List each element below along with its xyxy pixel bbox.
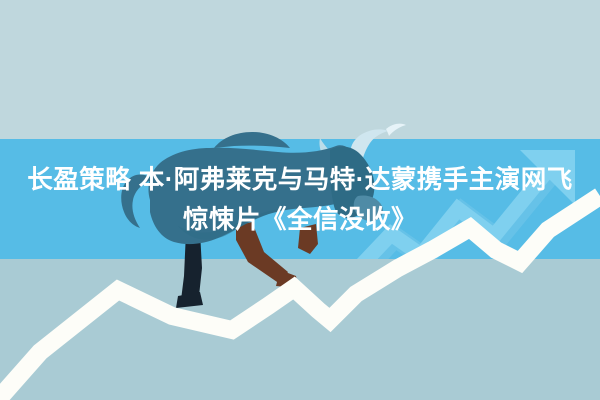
background-band-top [0,0,600,139]
promo-banner: 长盈策略 本·阿弗莱克与马特·达蒙携手主演网飞 惊悚片《全信没收》 [0,0,600,400]
headline-line-2: 惊悚片《全信没收》 [0,200,600,240]
background-band-bottom [0,259,600,400]
headline-line-1: 长盈策略 本·阿弗莱克与马特·达蒙携手主演网飞 [0,160,600,200]
headline: 长盈策略 本·阿弗莱克与马特·达蒙携手主演网飞 惊悚片《全信没收》 [0,160,600,240]
